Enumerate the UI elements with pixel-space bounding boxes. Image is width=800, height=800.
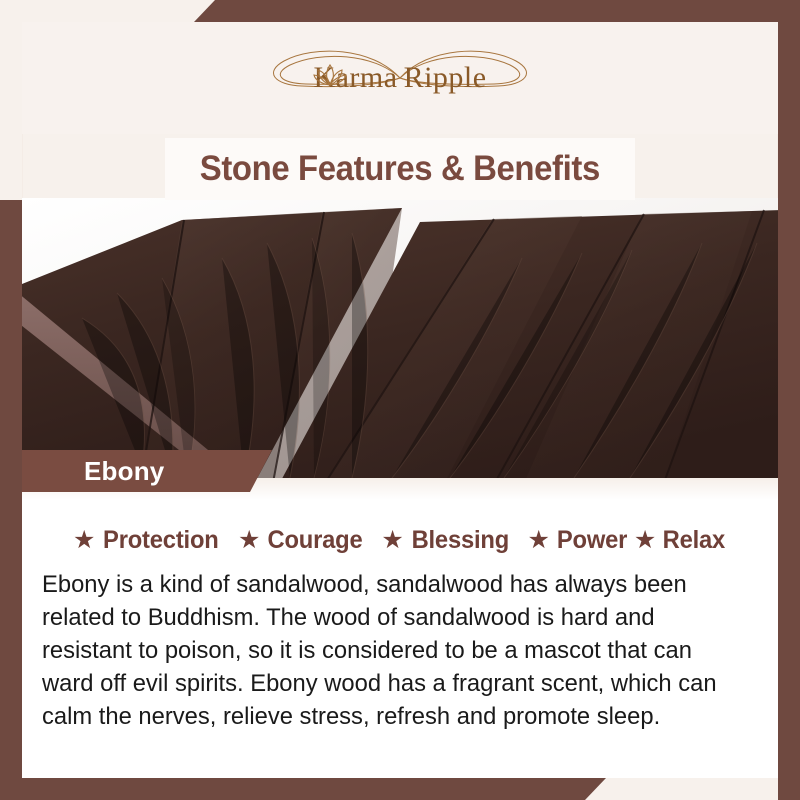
stone-description: Ebony is a kind of sandalwood, sandalwoo…	[42, 568, 742, 733]
feature-item: ★ Power	[527, 526, 628, 555]
brand-name-right: Ripple	[404, 61, 487, 95]
stone-name-label: Ebony	[22, 456, 164, 487]
frame-right-band	[778, 0, 800, 800]
frame-left-band	[0, 200, 22, 800]
info-card: Karma Ripple	[0, 0, 800, 800]
star-icon: ★	[73, 528, 95, 553]
page-title: Stone Features & Benefits	[200, 149, 600, 189]
ebony-wood-image	[22, 198, 778, 478]
star-icon: ★	[527, 528, 549, 553]
feature-label: Relax	[663, 526, 725, 555]
star-icon: ★	[238, 528, 260, 553]
feature-label: Power	[557, 526, 627, 555]
feature-item: ★ Relax	[634, 526, 727, 555]
feature-item: ★ Courage	[238, 526, 365, 555]
feature-label: Courage	[268, 526, 363, 555]
features-row: ★ Protection ★ Courage ★ Blessing ★ Powe…	[22, 526, 778, 555]
header-bar: Karma Ripple	[22, 22, 778, 134]
title-panel: Stone Features & Benefits	[165, 138, 635, 200]
stone-name-banner: Ebony	[22, 450, 272, 492]
lotus-icon	[313, 61, 347, 87]
feature-item: ★ Blessing	[381, 526, 511, 555]
hero-photo	[22, 198, 778, 478]
feature-item: ★ Protection	[73, 526, 222, 555]
star-icon: ★	[634, 528, 656, 553]
brand-name: Karma Ripple	[313, 61, 486, 95]
brand-logo: Karma Ripple	[240, 41, 560, 115]
feature-label: Blessing	[411, 526, 508, 555]
content-area: ★ Protection ★ Courage ★ Blessing ★ Powe…	[22, 478, 778, 778]
frame-bottom-band	[0, 778, 800, 800]
star-icon: ★	[381, 528, 403, 553]
feature-label: Protection	[103, 526, 219, 555]
frame-top-band	[0, 0, 800, 22]
